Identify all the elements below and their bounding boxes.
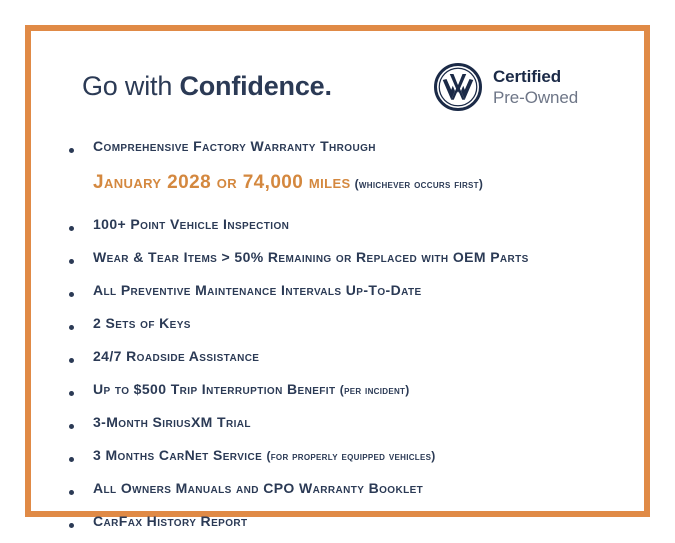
bullet-icon [69,523,74,528]
warranty-expiry-value: January 2028 or 74,000 miles [93,172,351,193]
list-item-note: (for properly equipped vehicles) [266,449,435,463]
list-item: All Owners Manuals and CPO Warranty Book… [31,477,644,510]
page-title-bold: Confidence. [179,71,331,101]
list-item: Wear & Tear Items > 50% Remaining or Rep… [31,246,644,279]
list-item-label: 24/7 Roadside Assistance [93,348,259,364]
list-item-label: 100+ Point Vehicle Inspection [93,216,289,232]
cpo-benefits-card: Go with Confidence. [25,25,650,517]
bullet-icon [69,148,74,153]
page-title-light: Go with [82,71,179,101]
bullet-icon [69,490,74,495]
list-item-label: 3 Months CarNet Service (for properly eq… [93,447,436,463]
bullet-icon [69,259,74,264]
warranty-expiry-note: (whichever occurs first) [351,177,484,191]
list-item: 24/7 Roadside Assistance [31,345,644,378]
bullet-icon [69,325,74,330]
page-root: Go with Confidence. [0,0,675,539]
list-item: CarFax History Report [31,510,644,543]
list-item: 2 Sets of Keys [31,312,644,345]
cpo-badge-text: Certified Pre-Owned [493,68,578,106]
list-item-warranty-expiry: January 2028 or 74,000 miles(whichever o… [31,168,644,213]
warranty-expiry-label: January 2028 or 74,000 miles(whichever o… [93,172,483,194]
cpo-badge-line1: Certified [493,68,578,85]
list-item-label: 2 Sets of Keys [93,315,191,331]
page-title: Go with Confidence. [82,71,332,101]
bullet-icon [69,226,74,231]
list-item-label: All Owners Manuals and CPO Warranty Book… [93,480,423,496]
list-item-label: All Preventive Maintenance Intervals Up-… [93,282,422,298]
list-item-label: Comprehensive Factory Warranty Through [93,138,376,154]
benefits-list: Comprehensive Factory Warranty Through J… [31,135,644,543]
card-header: Go with Confidence. [31,31,644,127]
card-inner: Go with Confidence. [31,31,644,511]
bullet-icon [69,457,74,462]
list-item: 100+ Point Vehicle Inspection [31,213,644,246]
bullet-icon [69,292,74,297]
vw-logo-icon [433,62,483,112]
list-item: Comprehensive Factory Warranty Through [31,135,644,168]
vw-certified-pre-owned-lockup: Certified Pre-Owned [433,62,578,112]
list-item-label: 3-Month SiriusXM Trial [93,414,251,430]
list-item-label: CarFax History Report [93,513,248,529]
list-item-main: Up to $500 Trip Interruption Benefit [93,381,340,397]
list-item-note: (per incident) [340,383,410,397]
list-item-label: Up to $500 Trip Interruption Benefit (pe… [93,381,410,397]
bullet-icon [69,391,74,396]
bullet-icon [69,358,74,363]
list-item: All Preventive Maintenance Intervals Up-… [31,279,644,312]
list-item: 3 Months CarNet Service (for properly eq… [31,444,644,477]
list-item-main: 3 Months CarNet Service [93,447,266,463]
cpo-badge-line2: Pre-Owned [493,89,578,106]
list-item: 3-Month SiriusXM Trial [31,411,644,444]
bullet-icon [69,424,74,429]
list-item-label: Wear & Tear Items > 50% Remaining or Rep… [93,249,529,265]
list-item: Up to $500 Trip Interruption Benefit (pe… [31,378,644,411]
